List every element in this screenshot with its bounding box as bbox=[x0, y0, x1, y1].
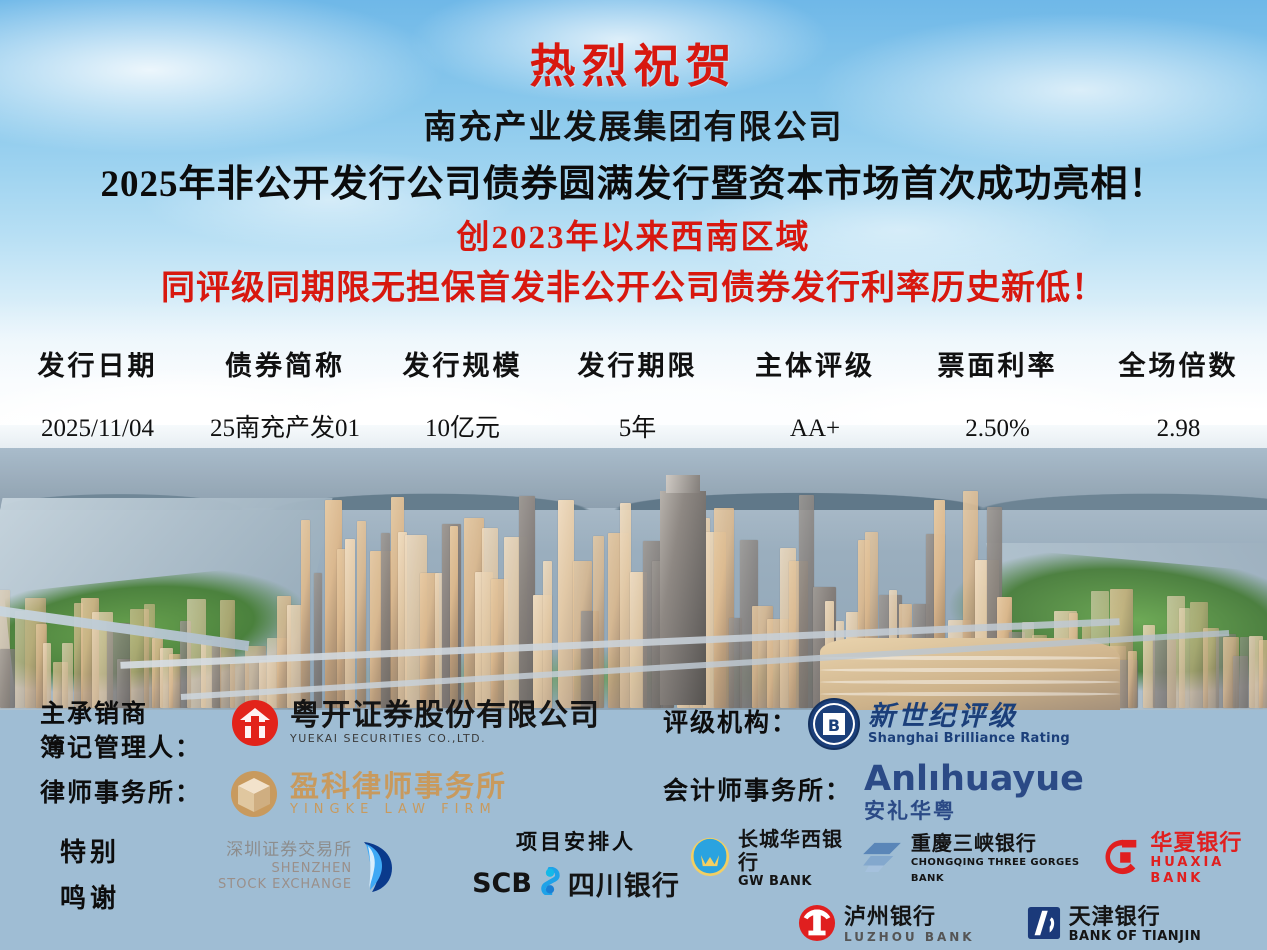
underwriter-label-line2: 簿记管理人： bbox=[40, 732, 230, 766]
cqtgb-text: 重慶三峡银行 CHONGQING THREE GORGES BANK bbox=[911, 832, 1088, 887]
huaxia-mark-icon bbox=[1104, 838, 1142, 881]
value-issue-date: 2025/11/04 bbox=[0, 409, 195, 449]
highlight-line-2: 同评级同期限无担保首发非公开公司债券发行利率历史新低！ bbox=[0, 265, 1267, 313]
value-issue-size: 10亿元 bbox=[375, 409, 550, 449]
svg-text:B: B bbox=[828, 716, 840, 735]
luzhou-en: LUZHOU BANK bbox=[844, 929, 975, 945]
congratulations-title: 热烈祝贺 bbox=[0, 38, 1267, 94]
yuekai-securities-logo: 粤开证券股份有限公司 YUEKAI SECURITIES CO.,LTD. bbox=[230, 698, 600, 748]
table-header-row: 发行日期 债券简称 发行规模 发行期限 主体评级 票面利率 全场倍数 bbox=[0, 345, 1267, 387]
value-issue-term: 5年 bbox=[550, 409, 725, 449]
special-thanks-label: 特别 鸣谢 bbox=[60, 830, 120, 922]
tianjin-mark-icon bbox=[1027, 906, 1061, 945]
bank-logo-huaxia: 华夏银行 HUAXIA BANK bbox=[1104, 832, 1265, 887]
tianjin-en: BANK OF TIANJIN bbox=[1069, 929, 1202, 945]
luzhou-cn: 泸州银行 bbox=[844, 906, 975, 929]
arranger-block: 项目安排人 SCB 四川银行 bbox=[466, 828, 686, 903]
value-coupon-rate: 2.50% bbox=[905, 409, 1090, 449]
tianjin-text: 天津银行 BANK OF TIANJIN bbox=[1069, 906, 1202, 945]
header-issue-term: 发行期限 bbox=[550, 345, 725, 387]
brilliance-text: 新世纪评级 Shanghai Brilliance Rating bbox=[868, 702, 1070, 747]
szse-name-cn: 深圳证券交易所 bbox=[218, 839, 352, 861]
headline-text: 2025年非公开发行公司债券圆满发行暨资本市场首次成功亮相！ bbox=[0, 160, 1267, 210]
szse-logo: 深圳证券交易所 SHENZHEN STOCK EXCHANGE bbox=[218, 838, 396, 894]
bank-logo-cqtgb: 重慶三峡银行 CHONGQING THREE GORGES BANK bbox=[861, 832, 1088, 887]
poster-canvas: 热烈祝贺 南充产业发展集团有限公司 2025年非公开发行公司债券圆满发行暨资本市… bbox=[0, 0, 1267, 950]
yuekai-name-en: YUEKAI SECURITIES CO.,LTD. bbox=[290, 732, 600, 746]
bank-logo-row-1: 长城华西银行 GW BANK 重 bbox=[690, 828, 1265, 890]
partners-section: 主承销商 簿记管理人： 粤开证券股份有限公司 YUEKAI bbox=[0, 690, 1267, 950]
value-issuer-rating: AA+ bbox=[725, 409, 905, 449]
header-issue-size: 发行规模 bbox=[375, 345, 550, 387]
company-name: 南充产业发展集团有限公司 bbox=[0, 106, 1267, 150]
yingke-name-en: YINGKE LAW FIRM bbox=[290, 802, 507, 818]
luzhou-text: 泸州银行 LUZHOU BANK bbox=[844, 906, 975, 945]
scb-mark-icon bbox=[538, 867, 562, 900]
yingke-law-logo: 盈科律师事务所 YINGKE LAW FIRM bbox=[230, 770, 507, 818]
underwriter-labels: 主承销商 簿记管理人： bbox=[40, 698, 230, 766]
yuekai-text: 粤开证券股份有限公司 YUEKAI SECURITIES CO.,LTD. bbox=[290, 700, 600, 746]
rating-agency-label: 评级机构： bbox=[663, 707, 798, 741]
special-thanks-line1: 特别 bbox=[60, 830, 120, 876]
special-thanks-line2: 鸣谢 bbox=[60, 876, 120, 922]
header-subscription-multiple: 全场倍数 bbox=[1090, 345, 1267, 387]
szse-mark-icon bbox=[358, 838, 396, 894]
bank-logo-row-2: 泸州银行 LUZHOU BANK bbox=[798, 904, 1265, 947]
law-firm-labels: 律师事务所： bbox=[40, 777, 230, 811]
bank-logo-tianjin: 天津银行 BANK OF TIANJIN bbox=[1027, 906, 1202, 945]
header-bond-name: 债券简称 bbox=[195, 345, 375, 387]
value-bond-name: 25南充产发01 bbox=[195, 409, 375, 449]
law-firm-label: 律师事务所： bbox=[40, 777, 230, 811]
brilliance-name-cn: 新世纪评级 bbox=[868, 702, 1070, 731]
scb-abbr: SCB bbox=[472, 868, 532, 899]
arranger-label: 项目安排人 bbox=[466, 828, 686, 856]
bank-logo-gw: 长城华西银行 GW BANK bbox=[690, 828, 845, 890]
scb-name-cn: 四川银行 bbox=[568, 864, 680, 903]
rating-agency-block: 评级机构： B 新世纪评级 Shang bbox=[663, 698, 1070, 750]
accounting-firm-label: 会计师事务所： bbox=[663, 775, 852, 809]
gw-bank-cn: 长城华西银行 bbox=[738, 828, 845, 874]
huaxia-text: 华夏银行 HUAXIA BANK bbox=[1150, 832, 1265, 887]
yuekai-name-cn: 粤开证券股份有限公司 bbox=[290, 700, 600, 732]
brilliance-seal-icon: B bbox=[808, 698, 860, 750]
header-issue-date: 发行日期 bbox=[0, 345, 195, 387]
szse-name-en-line1: SHENZHEN bbox=[218, 861, 352, 877]
anlihuayue-logo: Anlıhuayue 安礼华粤 bbox=[864, 760, 1084, 824]
tianjin-cn: 天津银行 bbox=[1069, 906, 1202, 929]
yingke-text: 盈科律师事务所 YINGKE LAW FIRM bbox=[290, 771, 507, 818]
table-row: 2025/11/04 25南充产发01 10亿元 5年 AA+ 2.50% 2.… bbox=[0, 409, 1267, 449]
huaxia-en: HUAXIA BANK bbox=[1150, 855, 1265, 887]
gw-bank-text: 长城华西银行 GW BANK bbox=[738, 828, 845, 890]
bank-logo-luzhou: 泸州银行 LUZHOU BANK bbox=[798, 904, 975, 947]
cqtgb-en: CHONGQING THREE GORGES BANK bbox=[911, 855, 1088, 887]
cqtgb-mark-icon bbox=[861, 841, 903, 878]
underwriter-label-line1: 主承销商 bbox=[40, 698, 230, 732]
yingke-cube-icon bbox=[230, 770, 278, 818]
law-firm-block: 律师事务所： 盈科律师事务所 YINGKE LAW FIRM bbox=[40, 770, 507, 818]
bank-logos: 长城华西银行 GW BANK 重 bbox=[690, 828, 1265, 947]
bond-summary-table: 发行日期 债券简称 发行规模 发行期限 主体评级 票面利率 全场倍数 2025/… bbox=[0, 345, 1267, 449]
brilliance-name-en: Shanghai Brilliance Rating bbox=[868, 731, 1070, 747]
accounting-firm-block: 会计师事务所： Anlıhuayue 安礼华粤 bbox=[663, 760, 1084, 824]
yuekai-mark-icon bbox=[230, 698, 280, 748]
value-subscription-multiple: 2.98 bbox=[1090, 409, 1267, 449]
anlihuayue-name-cn: 安礼华粤 bbox=[864, 798, 1084, 824]
gw-bank-en: GW BANK bbox=[738, 874, 845, 890]
szse-text: 深圳证券交易所 SHENZHEN STOCK EXCHANGE bbox=[218, 839, 352, 893]
shanghai-brilliance-logo: B 新世纪评级 Shanghai Brilliance Rating bbox=[808, 698, 1070, 750]
underwriter-block: 主承销商 簿记管理人： 粤开证券股份有限公司 YUEKAI bbox=[40, 698, 600, 766]
highlight-line-1: 创2023年以来西南区域 bbox=[0, 215, 1267, 261]
huaxia-cn: 华夏银行 bbox=[1150, 832, 1265, 855]
bank-of-sichuan-logo: SCB 四川银行 bbox=[466, 864, 686, 903]
anlihuayue-name-en: Anlıhuayue bbox=[864, 760, 1084, 798]
yingke-name-cn: 盈科律师事务所 bbox=[290, 771, 507, 802]
header-issuer-rating: 主体评级 bbox=[725, 345, 905, 387]
szse-name-en-line2: STOCK EXCHANGE bbox=[218, 877, 352, 893]
gw-bank-mark-icon bbox=[690, 837, 730, 882]
header-coupon-rate: 票面利率 bbox=[905, 345, 1090, 387]
cqtgb-cn: 重慶三峡银行 bbox=[911, 832, 1088, 855]
luzhou-mark-icon bbox=[798, 904, 836, 947]
